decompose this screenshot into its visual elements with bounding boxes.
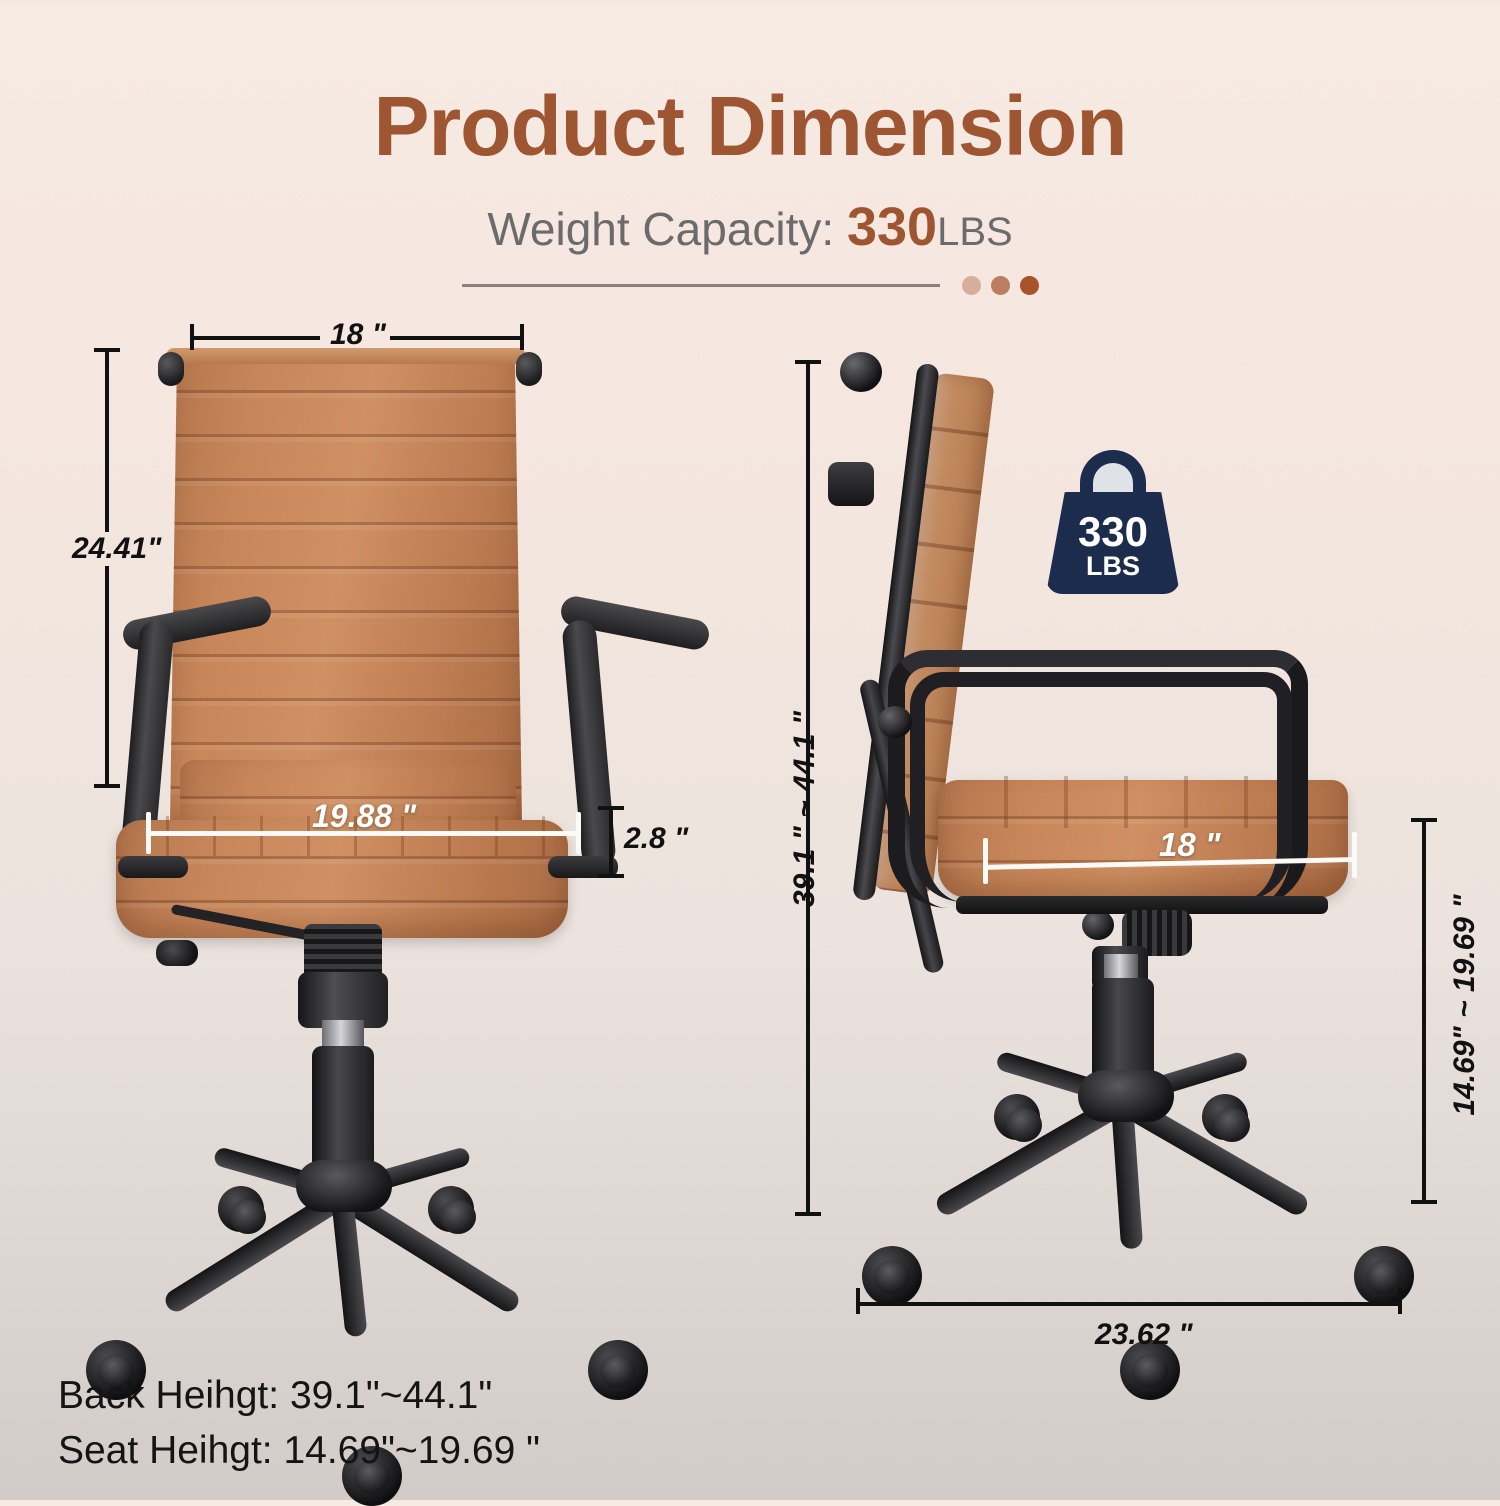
front-backrest-height-label: 24.41" [68,532,165,566]
divider-dot-2 [991,276,1010,295]
side-seat-depth-label: 18 " [1159,826,1221,864]
divider-line [462,284,940,287]
front-backrest-knob-left [158,352,184,386]
side-base-width-label: 23.62 " [1095,1318,1193,1352]
side-caster-rear-right [1202,1094,1248,1140]
front-height-dimension-line [105,348,109,788]
side-frame-ball-top [840,352,882,392]
weight-capacity-value: 330 [847,197,937,257]
page-title: Product Dimension [0,78,1500,175]
weight-capacity-unit: LBS [937,210,1013,254]
front-caster-rear-right [428,1186,474,1232]
front-height-tick-bottom [94,784,120,788]
front-width-tick-left [190,324,194,350]
footer-specs: Back Heihgt: 39.1"~44.1" Seat Heihgt: 14… [58,1368,540,1479]
side-base-hub [1078,1070,1174,1122]
front-backrest [170,354,522,824]
side-base-width-tick-left [856,1288,860,1314]
front-height-tick-top [94,348,120,352]
front-width-dimension-line-left [190,336,320,340]
front-width-dimension-line-right [390,336,524,340]
weight-icon: 330 LBS [1038,448,1188,598]
front-armrest-foot-left [118,856,188,878]
side-base-width-dimension-line [856,1302,1402,1306]
front-caster-rear-left [218,1186,264,1232]
side-seat-depth-tick-left [983,838,988,884]
front-gas-cylinder-shaft [312,1046,374,1174]
side-caster-far-left [862,1246,922,1306]
side-caster-rear-left [994,1094,1040,1140]
header-divider [0,276,1500,295]
front-backrest-width-label: 18 " [330,318,386,352]
front-seat-width-label: 19.88 " [312,798,416,835]
side-seat-height-label: 14.69" ~ 19.69 " [1448,880,1482,1130]
front-seat-thickness-tick-bottom [598,874,624,878]
front-lever-knob [156,940,198,966]
side-armrest-loop-inner [910,672,1292,902]
front-seat-thickness-line [609,806,613,878]
side-height-tick-bottom [795,1212,821,1216]
front-width-tick-right [520,324,524,350]
infographic-canvas: Product Dimension Weight Capacity: 330LB… [0,0,1500,1500]
divider-dot-1 [962,276,981,295]
footer-back-height: Back Heihgt: 39.1"~44.1" [58,1368,540,1423]
front-base-hub [296,1160,392,1212]
weight-icon-value: 330 [1078,512,1148,552]
front-seat-thickness-label: 2.8 " [624,822,688,856]
divider-dot-3 [1020,276,1039,295]
side-caster-far-right [1354,1246,1414,1306]
side-base-width-tick-right [1398,1288,1402,1314]
front-seat-width-tick-right [576,812,581,854]
side-armrest-ball-rear [878,706,912,738]
front-seat-thickness-tick-top [598,806,624,810]
side-tilt-knob [828,462,874,506]
weight-capacity-line: Weight Capacity: 330LBS [0,196,1500,258]
side-seat-height-tick-top [1411,818,1437,822]
side-seat-height-tick-bottom [1411,1200,1437,1204]
weight-icon-body: 330 LBS [1046,492,1180,594]
side-seat-height-dimension-line [1422,818,1426,1204]
weight-capacity-label: Weight Capacity: [487,203,847,255]
front-backrest-knob-right [516,352,542,386]
side-armrest-ball-front [1082,910,1114,940]
side-total-height-label: 39.1 " ~ 44.1 " [788,704,822,914]
side-seat-depth-tick-right [1352,832,1357,878]
side-height-tick-top [795,360,821,364]
front-seat-width-tick-left [146,812,151,854]
front-caster-far-right [588,1340,648,1400]
weight-icon-unit: LBS [1086,552,1140,580]
footer-seat-height: Seat Heihgt: 14.69"~19.69 " [58,1423,540,1478]
